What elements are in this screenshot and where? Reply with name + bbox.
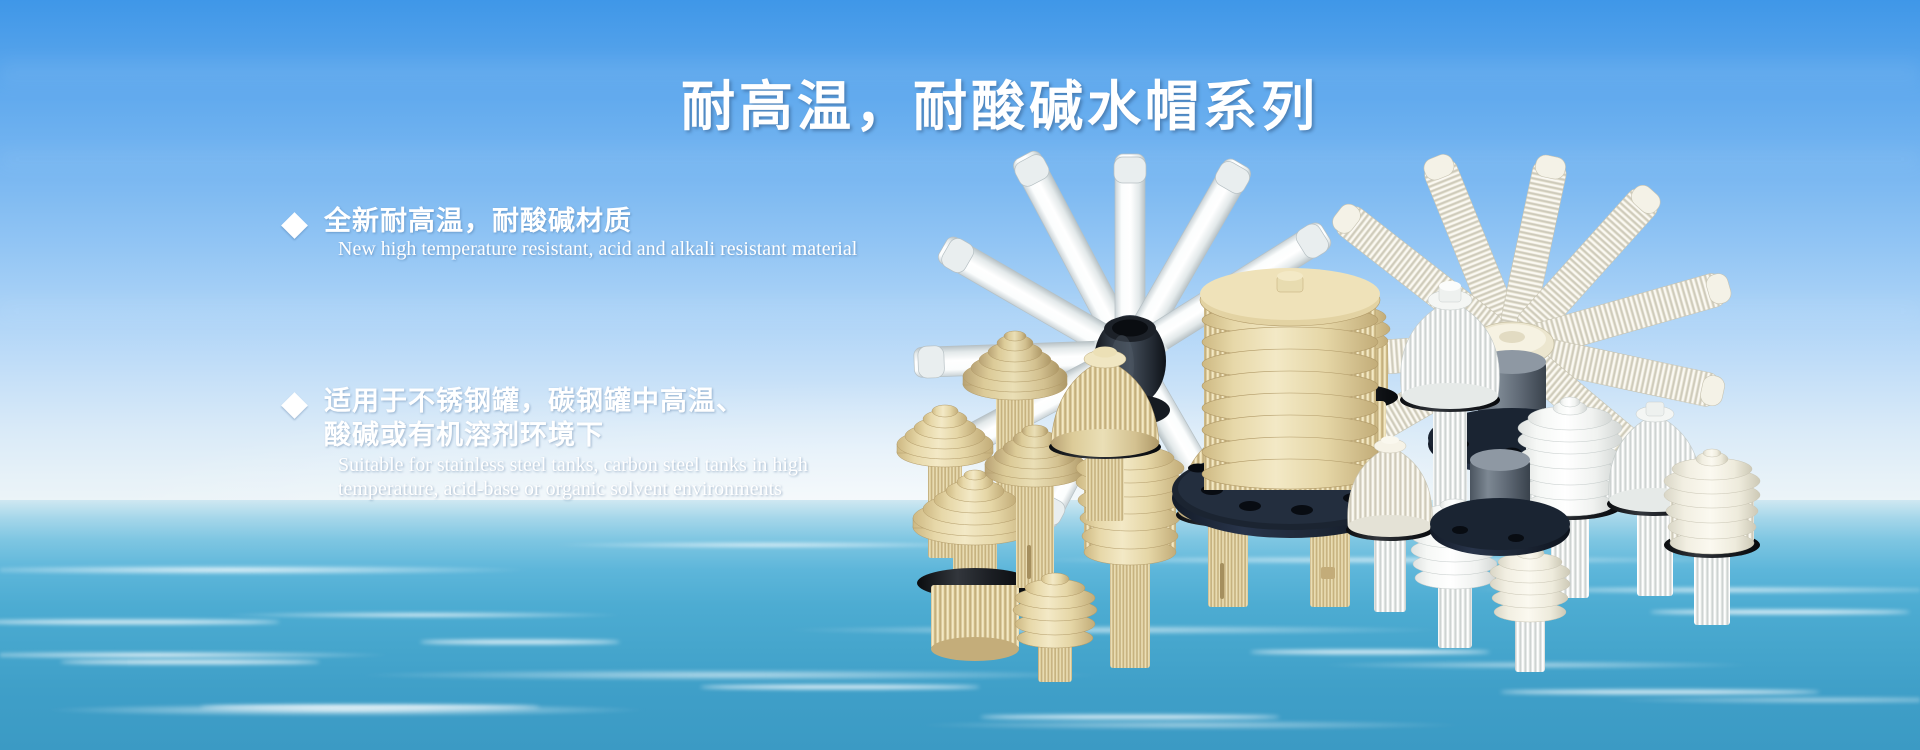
diamond-marker-icon	[281, 392, 308, 419]
diamond-marker-icon	[281, 212, 308, 239]
feature-bullet-2-en: Suitable for stainless steel tanks, carb…	[338, 453, 808, 501]
feature-bullet-2: 适用于不锈钢罐，碳钢罐中高温、 酸碱或有机溶剂环境下 Suitable for …	[285, 385, 808, 501]
feature-bullet-1: 全新耐高温，耐酸碱材质 New high temperature resista…	[285, 205, 857, 261]
stacked-disc-nozzle	[1013, 573, 1097, 682]
white-stacked-disc-nozzle	[1664, 449, 1760, 625]
feature-bullet-1-cn: 全新耐高温，耐酸碱材质	[324, 205, 632, 239]
page-title: 耐高温，耐酸碱水帽系列	[681, 62, 1319, 141]
white-stacked-disc-nozzle	[1490, 547, 1570, 672]
banner: 耐高温，耐酸碱水帽系列 全新耐高温，耐酸碱材质 New high tempera…	[0, 0, 1920, 750]
feature-bullet-2-cn: 适用于不锈钢罐，碳钢罐中高温、 酸碱或有机溶剂环境下	[324, 385, 744, 453]
feature-bullet-1-en: New high temperature resistant, acid and…	[338, 237, 857, 261]
